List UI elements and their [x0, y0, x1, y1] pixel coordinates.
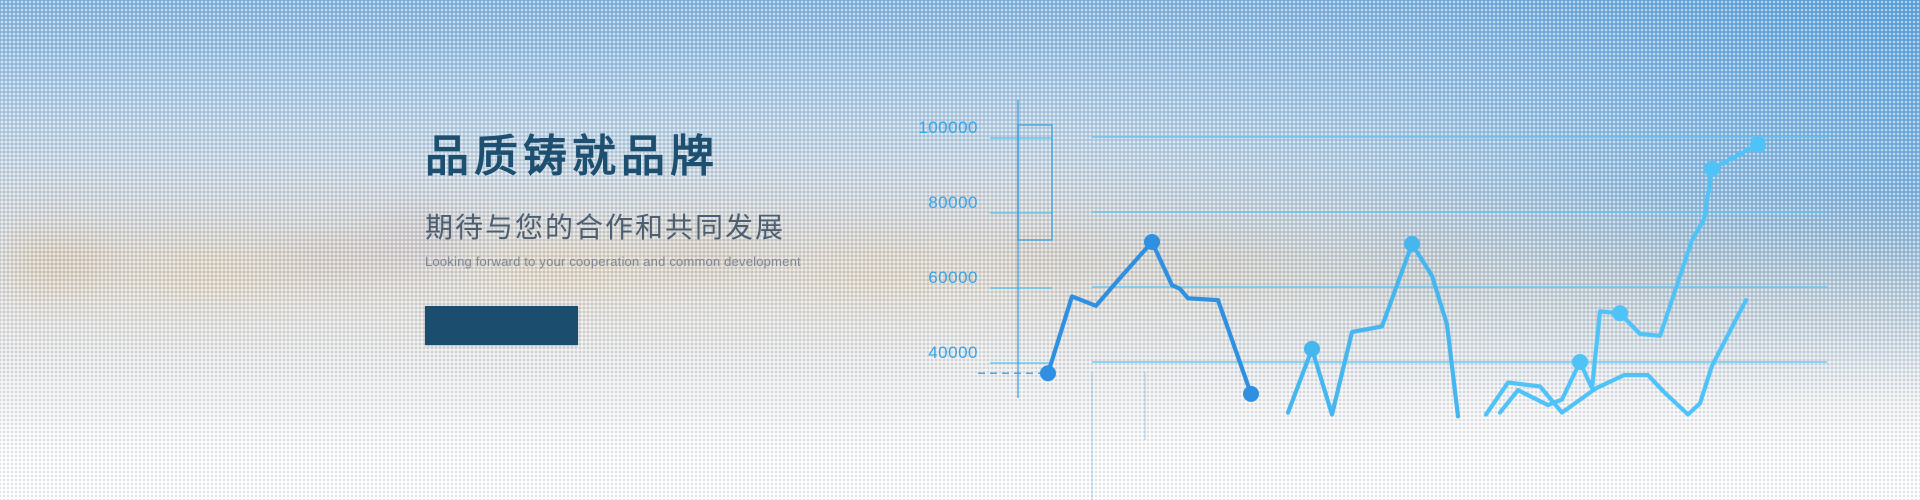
chart-data-point [1404, 236, 1420, 252]
chart-y-tick-label: 100000 [868, 118, 978, 138]
hero-subtitle-english: Looking forward to your cooperation and … [425, 254, 801, 269]
chart-data-point [1750, 137, 1766, 153]
hero-copy: 品质铸就品牌 期待与您的合作和共同发展 Looking forward to y… [425, 132, 801, 269]
chart-axis-marker-box [1018, 125, 1052, 240]
chart-y-tick-label: 60000 [868, 268, 978, 288]
chart-series-line-1 [1048, 242, 1251, 394]
hero-subtitle: 期待与您的合作和共同发展 [425, 211, 801, 245]
chart-series-line-2 [1288, 244, 1458, 417]
chart-data-point [1144, 234, 1160, 250]
line-chart [0, 0, 1920, 500]
cta-button[interactable] [425, 306, 578, 345]
chart-data-point [1704, 161, 1720, 177]
chart-data-point [1040, 365, 1056, 381]
chart-y-tick-label: 40000 [868, 343, 978, 363]
chart-y-tick-label: 80000 [868, 193, 978, 213]
chart-data-point [1572, 354, 1588, 370]
hero-banner: 100000800006000040000 品质铸就品牌 期待与您的合作和共同发… [0, 0, 1920, 500]
chart-series-line-3 [1500, 145, 1758, 413]
page-title: 品质铸就品牌 [425, 132, 801, 181]
chart-data-point [1304, 341, 1320, 357]
chart-data-point [1243, 386, 1259, 402]
chart-data-point [1612, 305, 1628, 321]
